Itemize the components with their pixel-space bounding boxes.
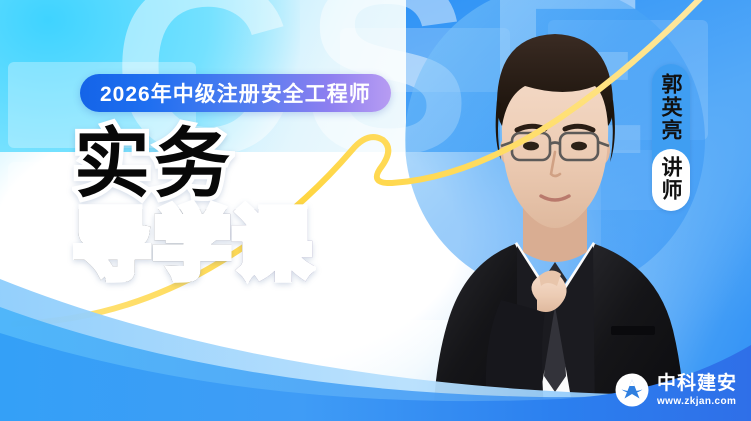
headline-block: 实务 导学课	[74, 128, 314, 282]
course-badge[interactable]: 2026年中级注册安全工程师	[80, 74, 391, 112]
instructor-pill[interactable]: 郭英亮 讲师	[652, 64, 690, 211]
course-badge-label: 2026年中级注册安全工程师	[100, 78, 371, 108]
brand-text-block: 中科建安 www.zkjan.com	[657, 374, 737, 407]
instructor-role: 讲师	[660, 156, 682, 202]
brand-name: 中科建安	[657, 374, 737, 393]
instructor-name: 郭英亮	[660, 73, 682, 142]
brand-logo[interactable]: 中科建安 www.zkjan.com	[615, 373, 737, 407]
zkjan-logo-icon	[615, 373, 649, 407]
brand-url: www.zkjan.com	[657, 397, 737, 407]
headline-line-1: 实务	[74, 128, 314, 201]
instructor-role-chip: 讲师	[652, 149, 690, 211]
headline-line-2: 导学课	[74, 209, 314, 282]
course-banner: CSE	[0, 0, 751, 421]
